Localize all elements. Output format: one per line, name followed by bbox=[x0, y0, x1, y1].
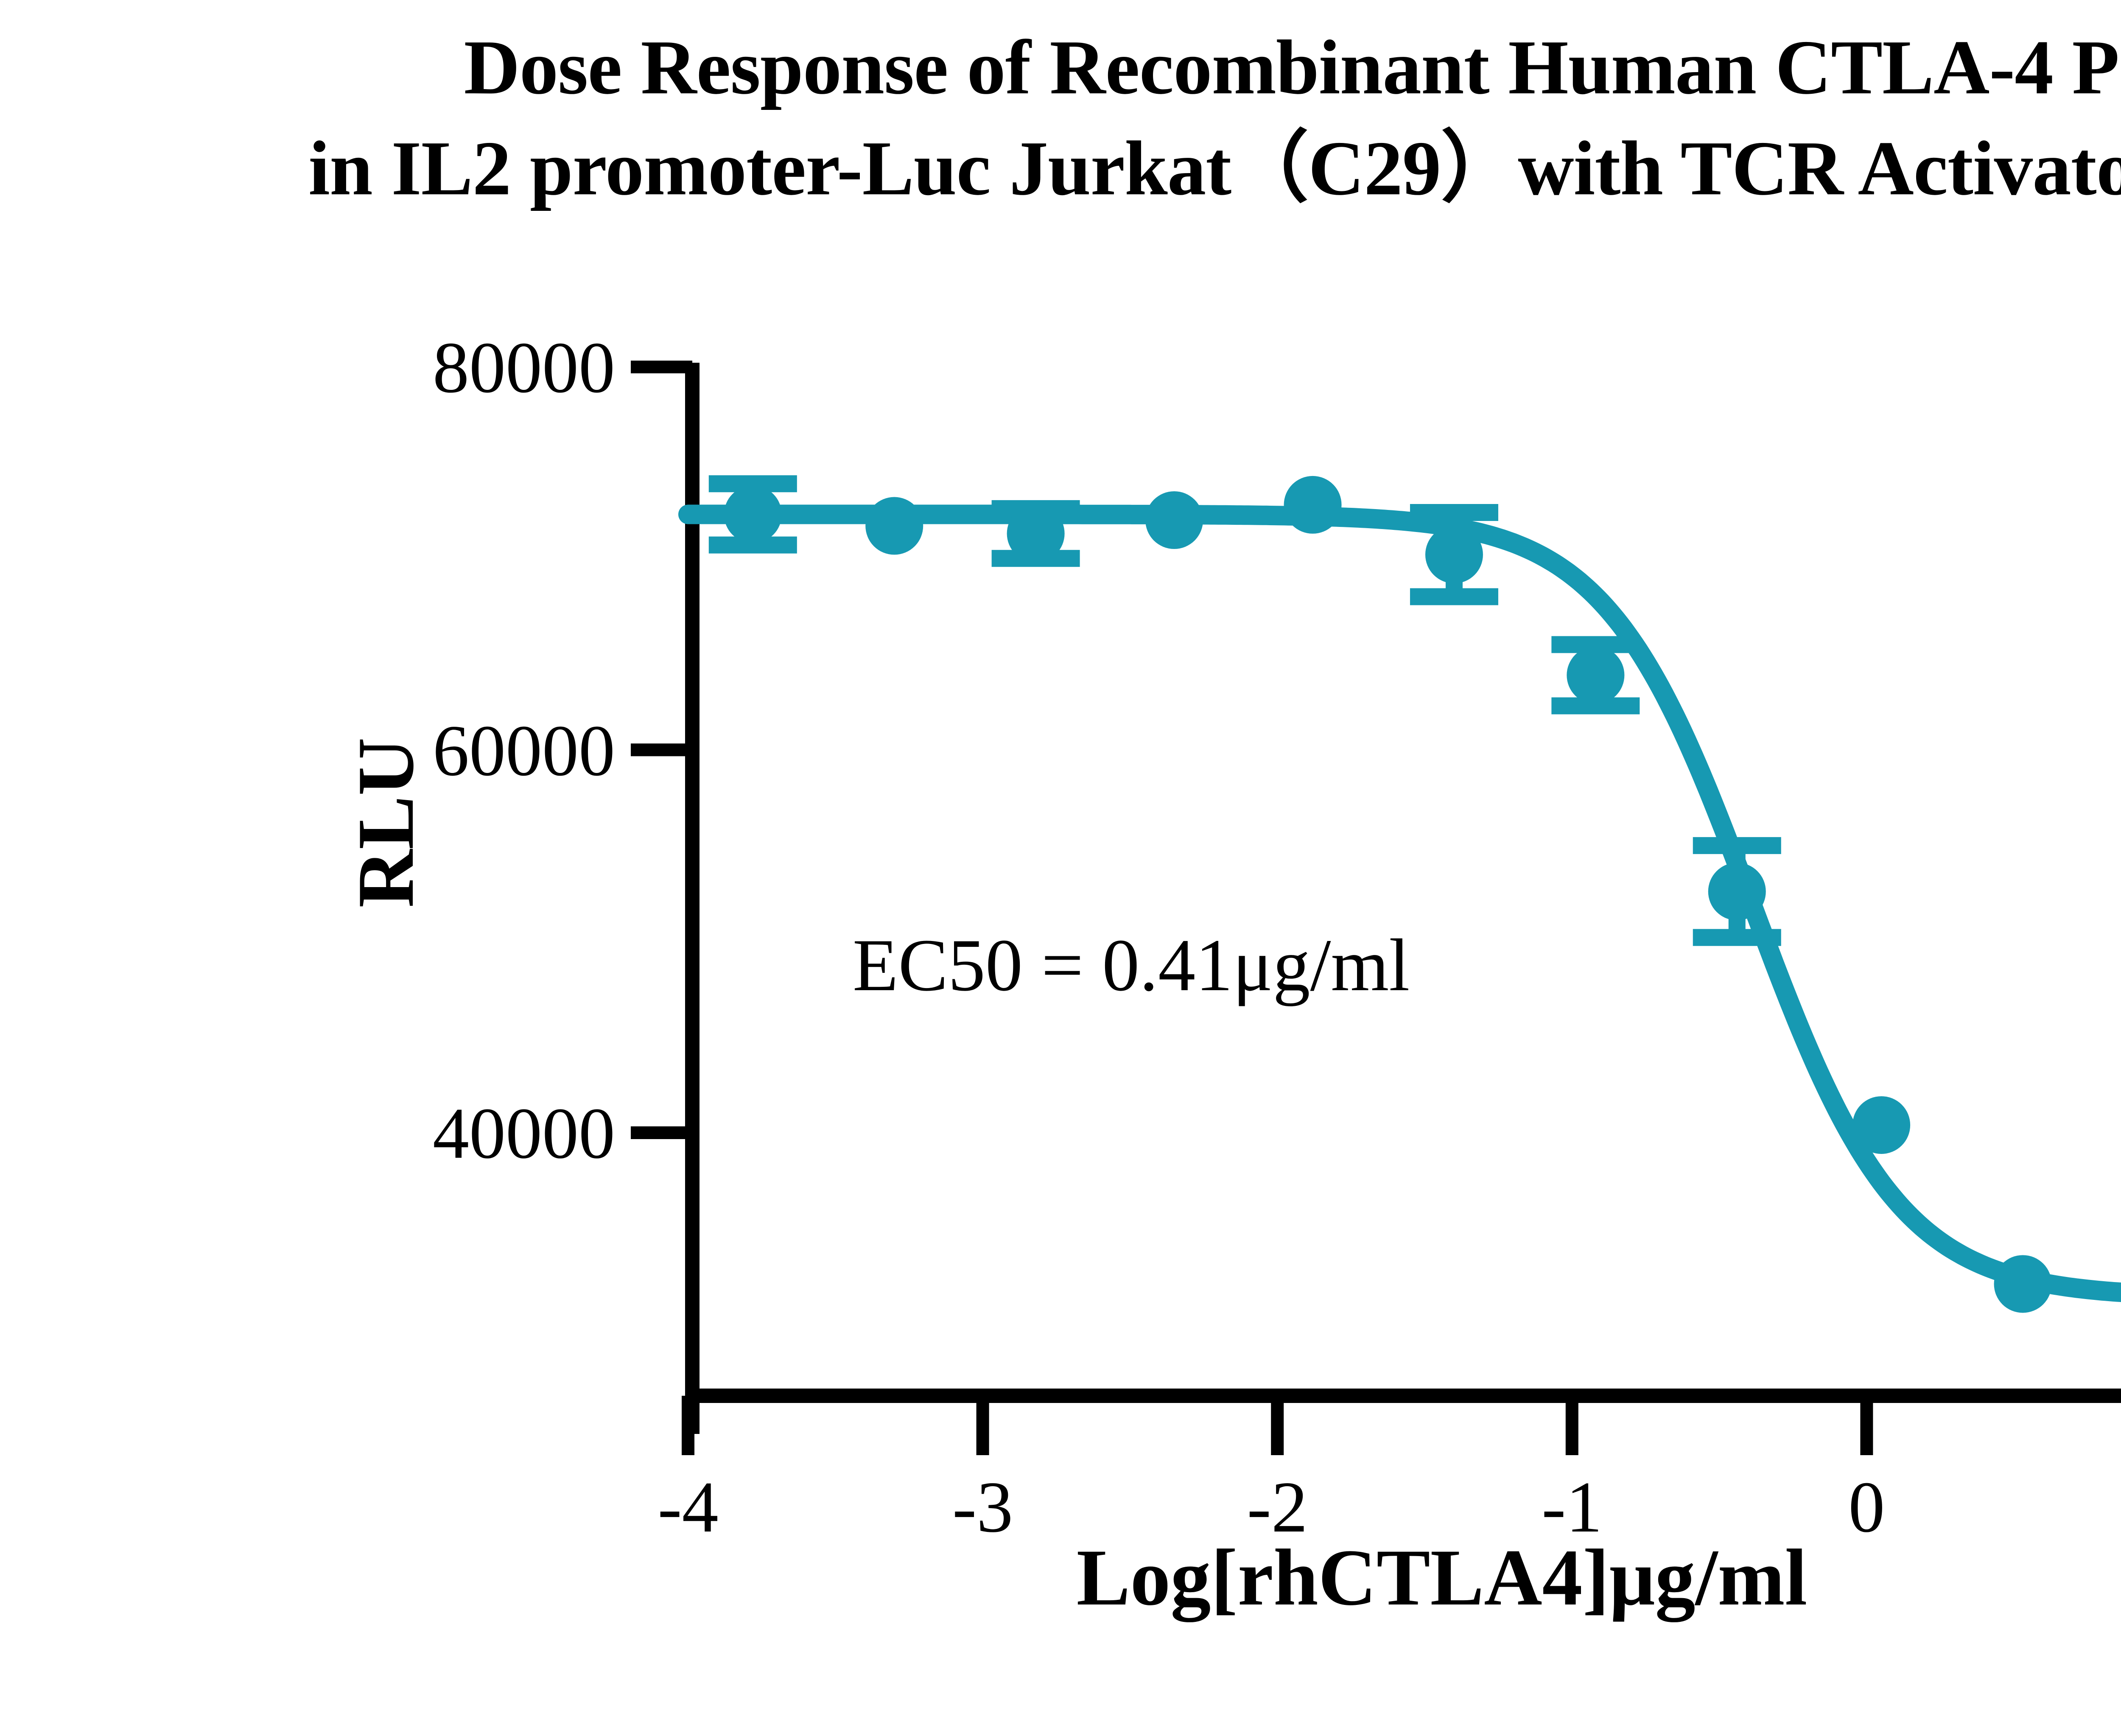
x-tick-label: -4 bbox=[603, 1466, 773, 1549]
x-tick-label: 0 bbox=[1782, 1466, 1951, 1549]
y-tick-label: 80000 bbox=[144, 326, 615, 410]
x-tick-label: -2 bbox=[1192, 1466, 1362, 1549]
x-axis-ticks bbox=[688, 1396, 2121, 1455]
x-tick-label: 1 bbox=[2076, 1466, 2121, 1549]
data-point bbox=[1994, 1255, 2052, 1313]
data-point bbox=[1708, 862, 1766, 920]
chart-page: Dose Response of Recombinant Human CTLA-… bbox=[0, 0, 2121, 1736]
x-tick-label: -3 bbox=[898, 1466, 1068, 1549]
data-point bbox=[1284, 476, 1342, 534]
data-point bbox=[724, 485, 782, 543]
y-tick-label: 60000 bbox=[144, 709, 615, 793]
data-point bbox=[1007, 505, 1065, 563]
data-point bbox=[1567, 647, 1624, 704]
error-bars bbox=[709, 484, 1781, 937]
data-point bbox=[1852, 1096, 1910, 1154]
x-tick-label: -1 bbox=[1487, 1466, 1657, 1549]
y-axis-ticks bbox=[631, 367, 692, 1133]
fit-curve bbox=[688, 515, 2121, 1295]
data-point bbox=[1145, 491, 1203, 549]
ec50-annotation: EC50 = 0.41μg/ml bbox=[853, 923, 1410, 1008]
y-tick-label: 40000 bbox=[144, 1092, 615, 1176]
data-point bbox=[1425, 526, 1483, 583]
plot-area: RLU Log[rhCTLA4]μg/ml 400006000080000 -4… bbox=[0, 0, 2121, 1736]
data-point bbox=[865, 497, 923, 555]
